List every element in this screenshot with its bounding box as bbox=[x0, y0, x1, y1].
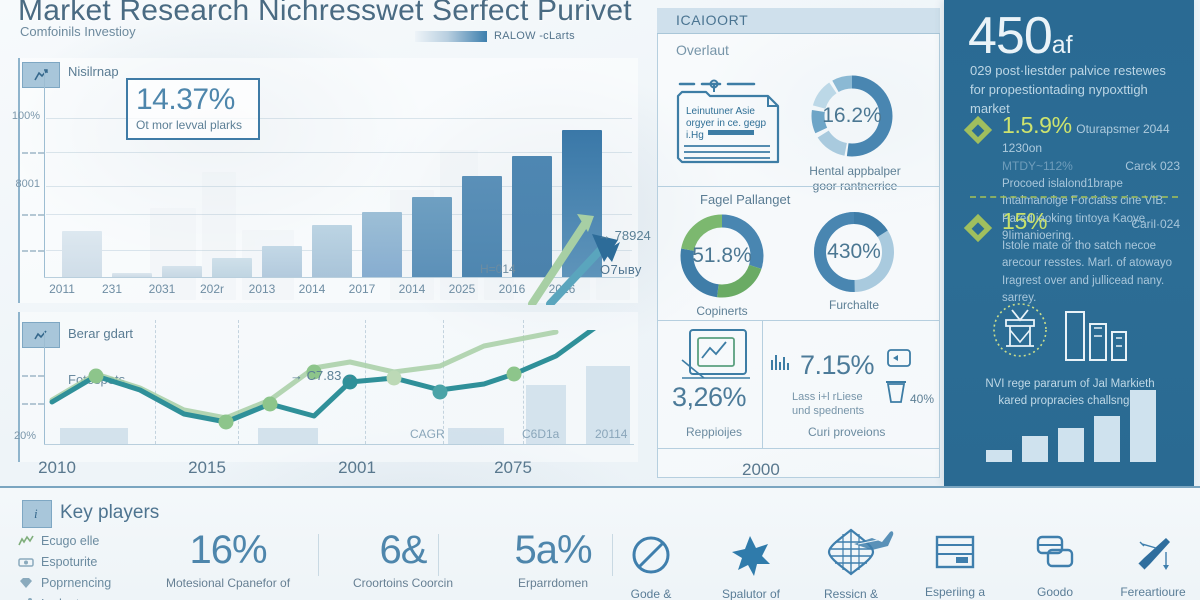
page-subtitle: Comfoinils Investioy bbox=[20, 24, 136, 39]
line-annotation-c6014: C6D1a bbox=[522, 427, 559, 441]
bar-y-axis bbox=[44, 72, 45, 277]
donut-right: 430% bbox=[810, 208, 898, 296]
line-annotation-20114: 20114 bbox=[595, 427, 627, 441]
bottom-icon-0-label: Gode & bbox=[608, 587, 694, 600]
list-item[interactable]: Poprnencing bbox=[18, 572, 158, 593]
bottom-stat-2-caption: Erparrdomen bbox=[478, 576, 628, 590]
diamond-bullet-icon-1 bbox=[964, 214, 992, 242]
list-item-label: Espoturite bbox=[41, 555, 97, 569]
bottom-stat-1-value: 6& bbox=[328, 530, 478, 570]
svg-text:i: i bbox=[34, 506, 38, 521]
bar-5 bbox=[312, 225, 352, 277]
bar-4 bbox=[262, 246, 302, 277]
donut-left: 51.8% bbox=[676, 210, 768, 302]
sidebar-headline-number: 450af bbox=[968, 6, 1073, 66]
donut-top: 16.2% bbox=[808, 72, 896, 160]
bar-ytick-2: 8001 bbox=[6, 178, 40, 190]
svg-text:Leinutuner Asie: Leinutuner Asie bbox=[686, 106, 755, 117]
arrow-label-blue: O7ыву bbox=[600, 262, 642, 277]
line-xlabel-1: 2015 bbox=[172, 458, 242, 478]
money-icon bbox=[18, 556, 34, 568]
presentation-chart-icon bbox=[680, 326, 754, 384]
bottom-icon-3-label: Esperiing a bbox=[912, 585, 998, 599]
bottom-icon-4-label: Goodo bbox=[1012, 585, 1098, 599]
legend-gradient-swatch bbox=[415, 31, 487, 42]
sidebar-card: NVI rege pararum of Jal Markiethkared pr… bbox=[964, 300, 1176, 476]
svg-text:orgyer in ce. gegp: orgyer in ce. gegp bbox=[686, 118, 766, 129]
infographic-root: Market Research Nichresswet Serfect Puri… bbox=[0, 0, 1200, 600]
list-item-label: Ecugo elle bbox=[41, 534, 99, 548]
bar-1 bbox=[112, 273, 152, 277]
bar-xlabel-8: 2025 bbox=[439, 282, 485, 296]
stat-left-caption: Reppioijes bbox=[686, 425, 742, 439]
mid-panel-xlabel: 2000 bbox=[742, 460, 780, 480]
stat-right-badge: 40% bbox=[910, 392, 934, 408]
stat-right-value: 7.15% bbox=[800, 350, 874, 381]
bar-xlabel-0: 2011 bbox=[39, 282, 85, 296]
burst-star-icon bbox=[730, 534, 772, 576]
chart-legend: RALOW -cLarts bbox=[415, 30, 575, 42]
bar-panel-label: Nisilrnap bbox=[68, 64, 119, 79]
bottom-icon-5-label: Fereartioure bbox=[1110, 585, 1196, 599]
bar-2 bbox=[162, 266, 202, 277]
sidebar-item-1-pct: 15% bbox=[1002, 208, 1047, 235]
chat-bubble-icon bbox=[886, 348, 912, 370]
diamond-bullet-icon-0 bbox=[964, 116, 992, 144]
sidebar-item-1: 15% Caril·024 Istole mate or tho satch n… bbox=[1002, 208, 1200, 307]
key-players-list: Ecugo elle Espoturite Poprnencing Imdapt… bbox=[18, 530, 158, 600]
sidebar-item-1-sub-right: Caril·024 bbox=[1131, 217, 1180, 235]
histogram-icon bbox=[770, 352, 792, 372]
donut-right-value: 430% bbox=[810, 208, 898, 296]
donut-section-title: Fagel Pallanget bbox=[700, 192, 790, 207]
bar-3 bbox=[212, 258, 252, 277]
sidebar-item-1-body: Istole mate or tho satch necoe arecour r… bbox=[1002, 238, 1186, 307]
stat-right-note: Lass i+l rLieseund spednents bbox=[792, 390, 884, 419]
browser-window-icon bbox=[934, 534, 976, 574]
bar-6 bbox=[362, 212, 402, 277]
list-item-label: Imdapta bbox=[41, 597, 86, 600]
bar-annotation-h: H=014 bbox=[480, 262, 516, 276]
bottom-stat-2: 5a% Erparrdomen bbox=[478, 530, 628, 590]
diamond-icon bbox=[18, 577, 34, 589]
bar-xlabel-4: 2013 bbox=[239, 282, 285, 296]
list-item[interactable]: Imdapta bbox=[18, 593, 158, 600]
bottom-icon-1-label: Spalutor of bbox=[708, 587, 794, 600]
pen-tool-icon bbox=[1132, 534, 1174, 574]
summary-sidebar: 450af 029 post·liestder palvice restewes… bbox=[944, 0, 1194, 486]
stat-left-value: 3,26% bbox=[672, 382, 746, 413]
bar-0 bbox=[62, 231, 102, 277]
bottom-icon-4[interactable]: Goodo bbox=[1012, 534, 1098, 599]
bar-xlabel-1: 231 bbox=[89, 282, 135, 296]
donut-right-caption: Furchalte bbox=[808, 298, 900, 313]
info-icon: i bbox=[22, 500, 52, 528]
sparkline-icon bbox=[18, 535, 34, 547]
document-icon: Leinutuner Asie orgyer in ce. gegp i.Hg bbox=[676, 70, 788, 168]
bottom-stat-1-caption: Croortoins Coorcin bbox=[328, 576, 478, 590]
legend-label: RALOW -cLarts bbox=[494, 30, 575, 42]
bottom-stat-2-value: 5a% bbox=[478, 530, 628, 570]
donut-left-value: 51.8% bbox=[676, 210, 768, 302]
sidebar-mini-bar-chart bbox=[986, 410, 1156, 462]
bar-xlabel-6: 2017 bbox=[339, 282, 385, 296]
bottom-icon-0[interactable]: Gode & bbox=[608, 534, 694, 600]
bottom-icon-5[interactable]: Fereartioure bbox=[1110, 534, 1196, 599]
bar-xlabel-3: 202r bbox=[189, 282, 235, 296]
stat-right-caption: Curi proveions bbox=[808, 425, 885, 439]
donut-top-caption: Hental appbalpergoor rantnerrice bbox=[796, 164, 914, 194]
badge-ribbon-icon bbox=[988, 300, 1052, 364]
line-annotation-cagr: CAGR bbox=[410, 427, 445, 441]
donut-left-caption: Copinerts bbox=[676, 304, 768, 319]
sidebar-item-0-pct: 1.5.9% bbox=[1002, 112, 1072, 138]
no-entry-icon bbox=[630, 534, 672, 576]
line-xlabel-0: 2010 bbox=[22, 458, 92, 478]
bottom-stat-1: 6& Croortoins Coorcin bbox=[328, 530, 478, 590]
line-annotation-c783: → C7.83→ bbox=[290, 368, 354, 383]
bird-icon bbox=[852, 528, 896, 554]
bar-xlabel-5: 2014 bbox=[289, 282, 335, 296]
bottom-stat-0: 16% Motesional Cpanefor of bbox=[148, 530, 308, 590]
growth-arrows bbox=[520, 200, 640, 305]
report-panel-subtitle: Overlaut bbox=[676, 42, 729, 58]
bar-xlabel-2: 2031 bbox=[139, 282, 185, 296]
bar-ytick-0: 100% bbox=[6, 110, 40, 122]
bottom-icon-1[interactable]: Spalutor of bbox=[708, 534, 794, 600]
line-xlabel-3: 2075 bbox=[478, 458, 548, 478]
donut-top-value: 16.2% bbox=[808, 72, 896, 160]
line-ytick-0: 20% bbox=[2, 430, 36, 442]
list-item[interactable]: Ecugo elle bbox=[18, 530, 158, 551]
buildings-icon bbox=[1064, 306, 1134, 364]
bar-chart-icon bbox=[22, 62, 60, 88]
sidebar-lead-text: 029 post·liestder palvice restewes for p… bbox=[970, 62, 1178, 119]
bottom-stat-0-value: 16% bbox=[148, 530, 308, 570]
bar-7 bbox=[412, 197, 452, 277]
line-xlabel-2: 2001 bbox=[322, 458, 392, 478]
bottom-stat-0-caption: Motesional Cpanefor of bbox=[148, 576, 308, 590]
arrow-label-green: → 78924 bbox=[598, 228, 651, 243]
bottom-icon-3[interactable]: Esperiing a bbox=[912, 534, 998, 599]
svg-text:i.Hg: i.Hg bbox=[686, 130, 704, 141]
sidebar-item-0-sub-left: MTDY~112% bbox=[1002, 159, 1073, 173]
bar-xlabel-7: 2014 bbox=[389, 282, 435, 296]
bottom-icon-2-label: Ressicn & bbox=[808, 587, 894, 600]
list-item-label: Poprnencing bbox=[41, 576, 111, 590]
list-item[interactable]: Espoturite bbox=[18, 551, 158, 572]
sidebar-item-0-sub-right: Carck 023 bbox=[1125, 159, 1180, 173]
cup-icon bbox=[884, 378, 908, 404]
report-panel-title: ICAIOORT bbox=[676, 12, 748, 28]
key-players-title: Key players bbox=[60, 502, 159, 524]
copy-cards-icon bbox=[1034, 534, 1076, 574]
